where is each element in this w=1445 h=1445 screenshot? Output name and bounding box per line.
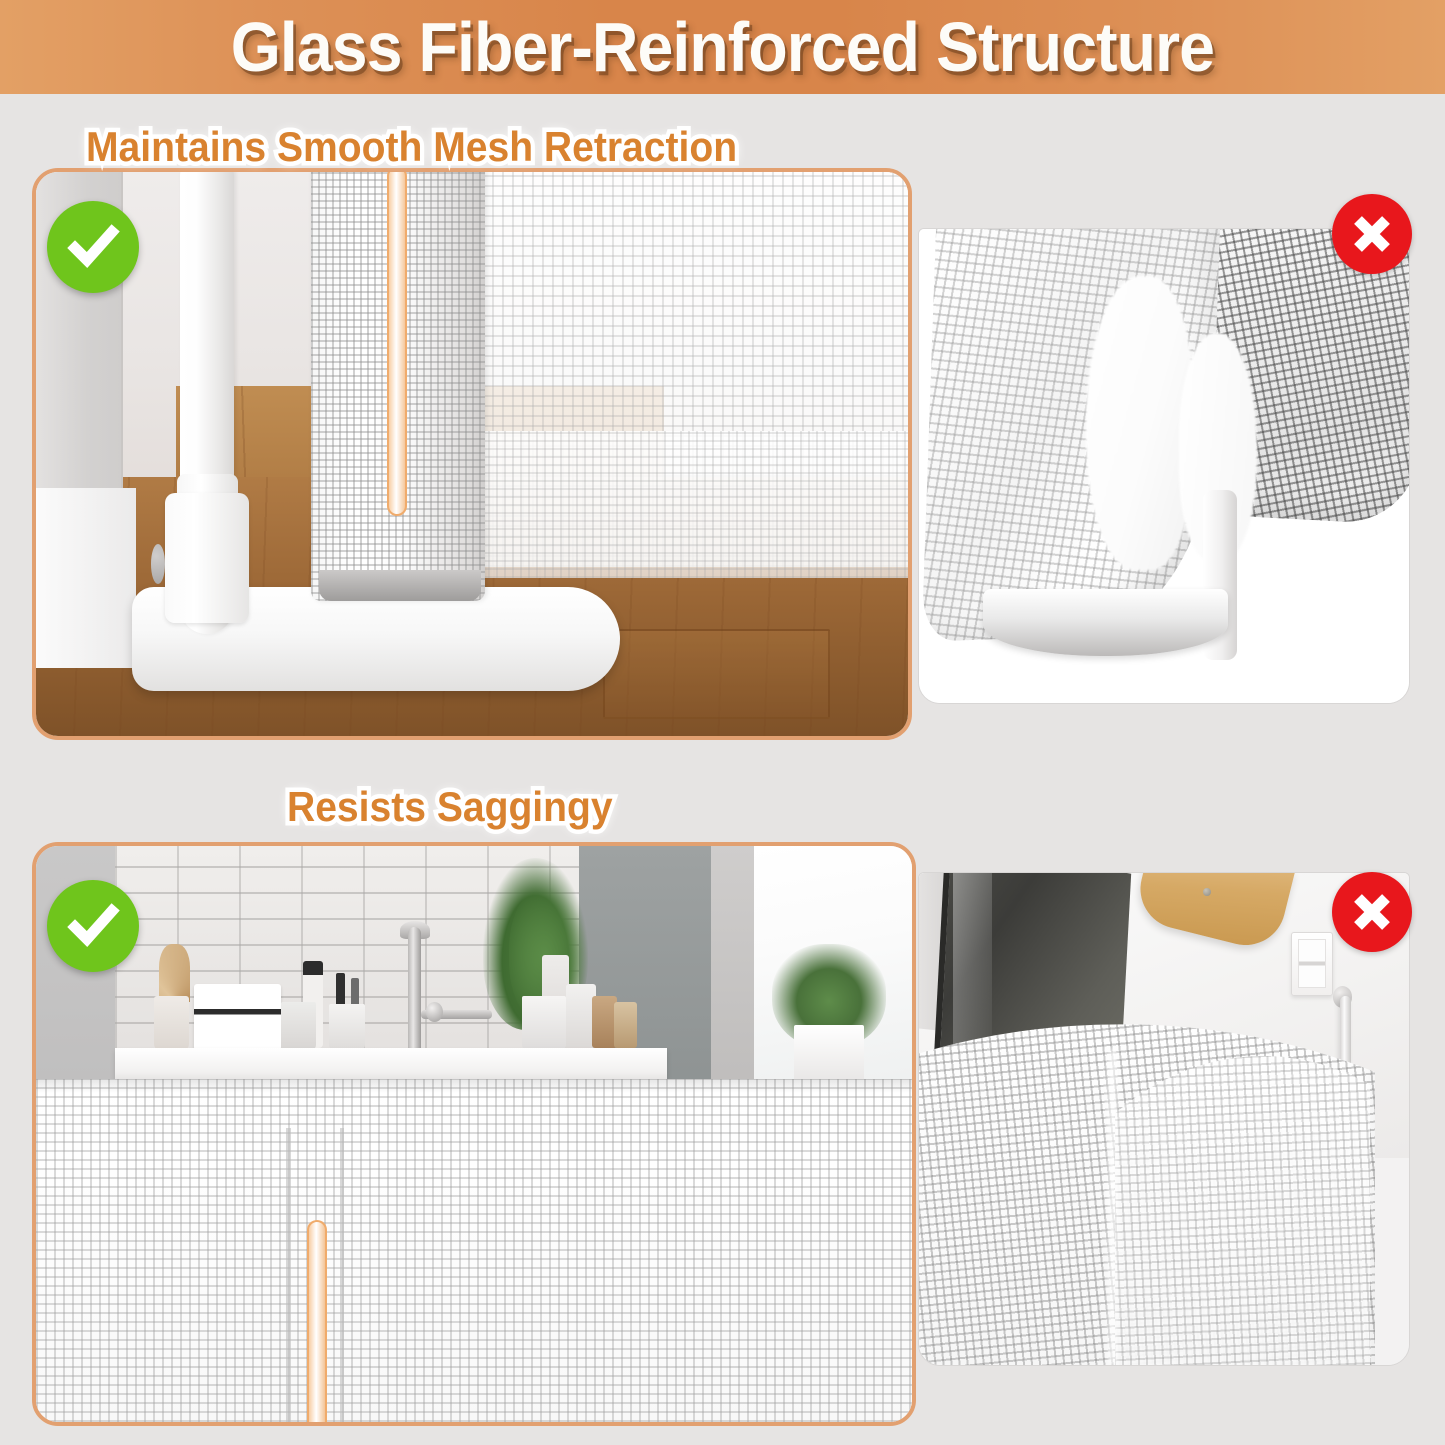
folded-towels	[194, 984, 282, 1050]
toothbrush-cup	[329, 1004, 366, 1050]
sagging-gate-scene	[919, 873, 1409, 1365]
cross-badge	[1332, 872, 1412, 952]
wood-canister	[592, 996, 617, 1048]
extended-mesh-panel-lower	[472, 431, 912, 578]
check-badge	[47, 201, 139, 293]
section-2-bad-photo	[918, 872, 1410, 1366]
gate-roll-base-bad	[983, 589, 1228, 655]
sagging-mesh-crease	[1105, 1050, 1120, 1365]
utensil-vase	[154, 996, 189, 1051]
section-caption-2: Resists Saggingy	[287, 786, 613, 828]
floor-plank-detail	[603, 629, 830, 719]
mesh-top-shadow	[32, 1079, 916, 1093]
header-banner: Glass Fiber-Reinforced Structure	[0, 0, 1445, 94]
wood-canister-small	[614, 1002, 637, 1048]
section-caption-1: Maintains Smooth Mesh Retraction	[86, 126, 737, 168]
handrail-screw	[1203, 888, 1211, 896]
taut-mesh-gate	[32, 1079, 916, 1426]
mesh-seam-left	[286, 1128, 290, 1426]
cross-badge	[1332, 194, 1412, 274]
mounting-screw	[151, 544, 165, 583]
mesh-seam-right	[340, 1128, 344, 1426]
mesh-roll-bottom-cap	[319, 570, 480, 601]
counter-canister	[281, 1002, 316, 1051]
page-title: Glass Fiber-Reinforced Structure	[231, 12, 1214, 82]
plant-pot	[522, 996, 566, 1051]
light-switch-rocker	[1298, 939, 1326, 988]
kitchen-gate-scene	[36, 846, 912, 1422]
mesh-fold-1	[1086, 276, 1194, 570]
taut-mesh-fabric	[32, 1079, 916, 1426]
baseboard	[36, 488, 136, 668]
crumpled-mesh-scene	[919, 229, 1409, 703]
retractable-gate-scene	[36, 172, 908, 736]
section-1-bad-photo	[918, 228, 1410, 704]
orange-pull-handle	[387, 168, 407, 516]
gate-post-collar	[165, 493, 249, 623]
faucet-spout	[408, 927, 421, 1048]
utensil-holder-contents	[159, 944, 191, 1002]
section-1-good-photo	[32, 168, 912, 740]
orange-pull-handle	[307, 1220, 328, 1426]
section-2-good-photo	[32, 842, 916, 1426]
check-badge	[47, 880, 139, 972]
